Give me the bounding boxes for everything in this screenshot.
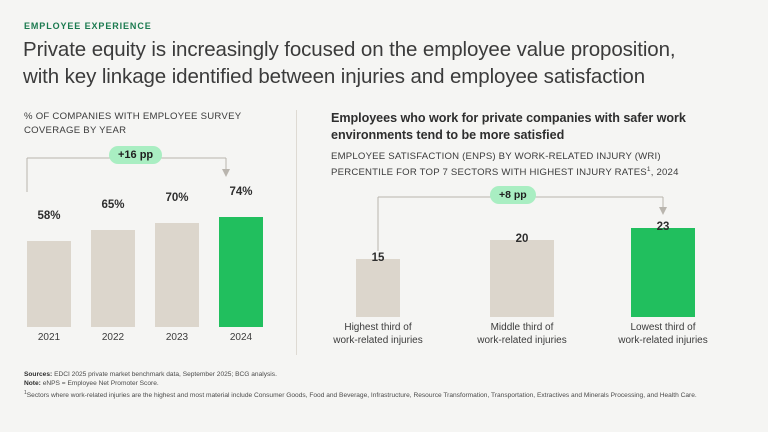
x-tick-2023: 2023 — [155, 332, 199, 345]
footnote-sources-text: EDCI 2025 private market benchmark data,… — [54, 371, 277, 378]
bar-2021[interactable] — [27, 241, 71, 327]
panel-divider — [296, 110, 297, 355]
right-chart-panel: Employees who work for private companies… — [331, 110, 751, 355]
footnote-note-label: Note: — [24, 380, 41, 387]
footnotes: Sources: EDCI 2025 private market benchm… — [24, 370, 750, 400]
bar-middle-third[interactable] — [490, 240, 554, 317]
x-tick-middle-third-line-1: Middle third of — [463, 322, 581, 335]
footnote-sectors: 1Sectors where work-related injuries are… — [24, 389, 750, 400]
bar-lowest-third[interactable] — [631, 228, 695, 317]
bar-2024[interactable] — [219, 217, 263, 327]
bar-value-2022: 65% — [91, 199, 135, 211]
bar-value-highest-third: 15 — [356, 252, 400, 264]
x-tick-2022: 2022 — [91, 332, 135, 345]
left-bar-chart: +16 pp 58% 65% 70% 74% 2021 2022 2023 20… — [24, 110, 279, 355]
page-title-line-2: with key linkage identified between inju… — [23, 63, 753, 90]
x-tick-middle-third-line-2: work-related injuries — [463, 335, 581, 348]
x-tick-lowest-third-line-1: Lowest third of — [604, 322, 722, 335]
bar-2022[interactable] — [91, 230, 135, 327]
x-tick-2021: 2021 — [27, 332, 71, 345]
bar-value-2021: 58% — [27, 210, 71, 222]
left-chart-panel: % OF COMPANIES WITH EMPLOYEE SURVEY COVE… — [24, 110, 279, 355]
x-tick-highest-third-line-2: work-related injuries — [319, 335, 437, 348]
footnote-sectors-text: Sectors where work-related injuries are … — [27, 392, 697, 399]
bar-highest-third[interactable] — [356, 259, 400, 317]
bar-value-2024: 74% — [219, 186, 263, 198]
right-bar-chart: +8 pp 15 20 23 Highest third of work-rel… — [331, 110, 751, 355]
footnote-sources: Sources: EDCI 2025 private market benchm… — [24, 370, 750, 379]
x-tick-2024: 2024 — [219, 332, 263, 345]
bar-2023[interactable] — [155, 223, 199, 327]
page-title-line-1: Private equity is increasingly focused o… — [23, 36, 753, 63]
bar-value-lowest-third: 23 — [631, 221, 695, 233]
footnote-sources-label: Sources: — [24, 371, 52, 378]
x-tick-highest-third: Highest third of work-related injuries — [319, 322, 437, 347]
x-tick-middle-third: Middle third of work-related injuries — [463, 322, 581, 347]
page-title: Private equity is increasingly focused o… — [23, 36, 753, 90]
x-tick-lowest-third: Lowest third of work-related injuries — [604, 322, 722, 347]
eyebrow-label: EMPLOYEE EXPERIENCE — [24, 21, 152, 31]
bar-value-middle-third: 20 — [490, 233, 554, 245]
slide-canvas: EMPLOYEE EXPERIENCE Private equity is in… — [0, 0, 768, 432]
x-tick-lowest-third-line-2: work-related injuries — [604, 335, 722, 348]
bar-value-2023: 70% — [155, 192, 199, 204]
footnote-note: Note: eNPS = Employee Net Promoter Score… — [24, 379, 750, 388]
left-change-badge: +16 pp — [109, 146, 162, 164]
footnote-note-text: eNPS = Employee Net Promoter Score. — [43, 380, 159, 387]
right-change-badge: +8 pp — [490, 186, 536, 204]
x-tick-highest-third-line-1: Highest third of — [319, 322, 437, 335]
